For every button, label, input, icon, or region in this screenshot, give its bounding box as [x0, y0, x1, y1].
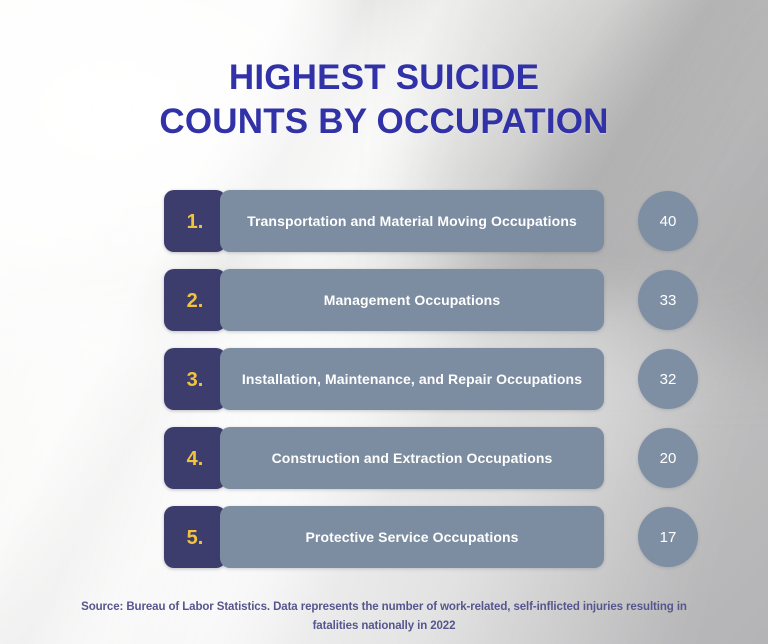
source-footnote: Source: Bureau of Labor Statistics. Data… — [0, 598, 768, 636]
count-badge: 32 — [638, 349, 698, 409]
occupation-panel: Construction and Extraction Occupations — [220, 427, 604, 489]
rank-number: 2. — [187, 289, 204, 311]
occupation-label: Transportation and Material Moving Occup… — [247, 212, 577, 231]
count-badge: 20 — [638, 428, 698, 488]
rank-badge: 3. — [164, 348, 226, 410]
occupation-label: Protective Service Occupations — [305, 528, 518, 547]
title-line-2: COUNTS BY OCCUPATION — [0, 100, 768, 144]
ranking-list: 1. Transportation and Material Moving Oc… — [164, 190, 704, 585]
occupation-panel: Protective Service Occupations — [220, 506, 604, 568]
rank-badge: 2. — [164, 269, 226, 331]
count-badge: 17 — [638, 507, 698, 567]
title-line-1: HIGHEST SUICIDE — [0, 56, 768, 100]
rank-number: 1. — [187, 210, 204, 232]
rank-number: 3. — [187, 368, 204, 390]
rank-badge: 4. — [164, 427, 226, 489]
occupation-label: Installation, Maintenance, and Repair Oc… — [242, 370, 582, 389]
occupation-label: Construction and Extraction Occupations — [272, 449, 553, 468]
list-item: 1. Transportation and Material Moving Oc… — [164, 190, 704, 252]
rank-number: 5. — [187, 526, 204, 548]
count-value: 40 — [660, 214, 677, 229]
page-title: HIGHEST SUICIDE COUNTS BY OCCUPATION — [0, 56, 768, 144]
list-item: 4. Construction and Extraction Occupatio… — [164, 427, 704, 489]
occupation-panel: Installation, Maintenance, and Repair Oc… — [220, 348, 604, 410]
count-badge: 33 — [638, 270, 698, 330]
rank-number: 4. — [187, 447, 204, 469]
count-badge: 40 — [638, 191, 698, 251]
footnote-line-1: Source: Bureau of Labor Statistics. Data… — [28, 598, 740, 617]
count-value: 33 — [660, 293, 677, 308]
list-item: 3. Installation, Maintenance, and Repair… — [164, 348, 704, 410]
list-item: 5. Protective Service Occupations 17 — [164, 506, 704, 568]
count-value: 32 — [660, 372, 677, 387]
count-value: 17 — [660, 530, 677, 545]
list-item: 2. Management Occupations 33 — [164, 269, 704, 331]
rank-badge: 1. — [164, 190, 226, 252]
occupation-panel: Transportation and Material Moving Occup… — [220, 190, 604, 252]
rank-badge: 5. — [164, 506, 226, 568]
infographic-canvas: HIGHEST SUICIDE COUNTS BY OCCUPATION 1. … — [0, 0, 768, 644]
occupation-panel: Management Occupations — [220, 269, 604, 331]
count-value: 20 — [660, 451, 677, 466]
infographic-content: HIGHEST SUICIDE COUNTS BY OCCUPATION 1. … — [0, 0, 768, 644]
footnote-line-2: fatalities nationally in 2022 — [28, 617, 740, 636]
occupation-label: Management Occupations — [324, 291, 500, 310]
